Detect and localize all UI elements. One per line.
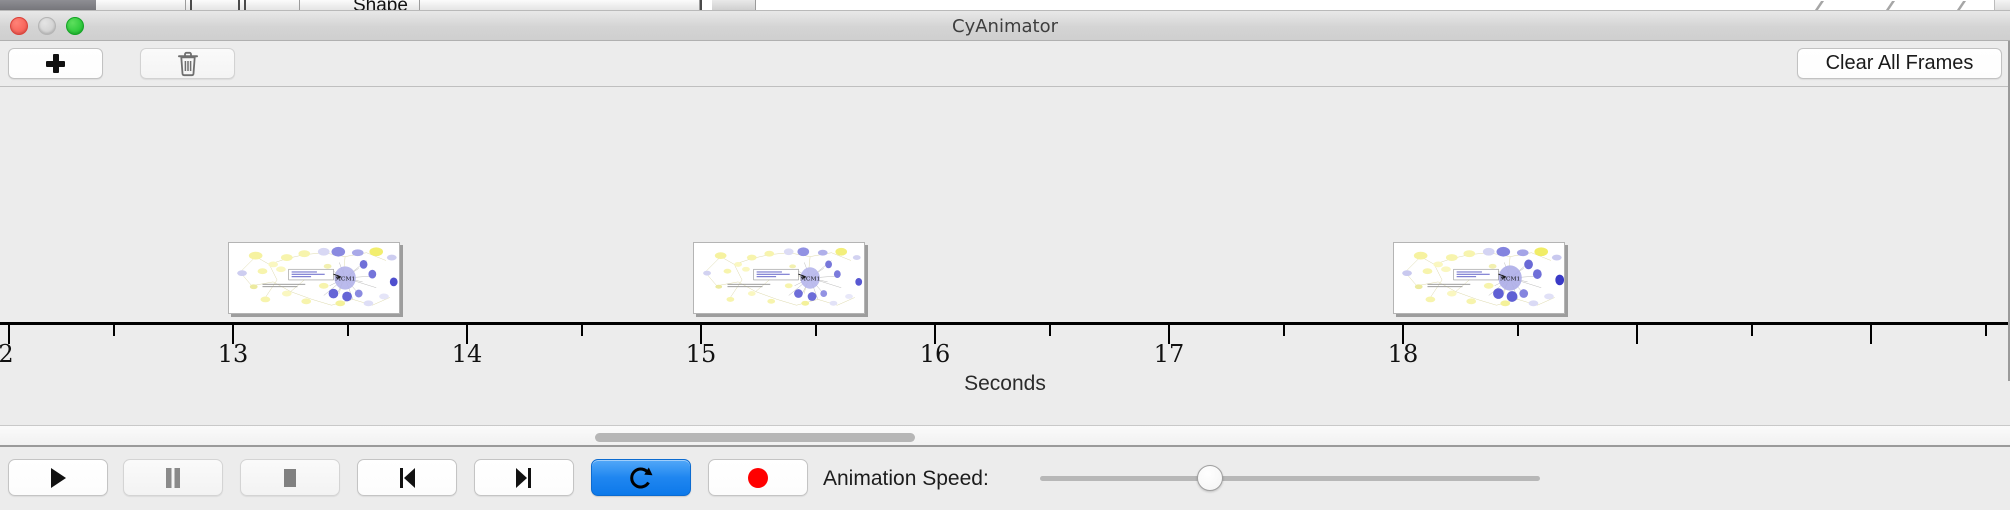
ruler-tick-minor — [347, 325, 349, 336]
background-slash — [1815, 1, 1832, 10]
frame-timeline-track[interactable]: MCM1 — [0, 87, 2010, 322]
background-dark-tab — [0, 0, 96, 10]
animation-speed-label: Animation Speed: — [823, 467, 989, 491]
animation-speed-slider[interactable] — [1040, 476, 1540, 481]
ruler-tick-minor — [581, 325, 583, 336]
ruler-tick-minor — [1751, 325, 1753, 336]
ruler-tick-label: 14 — [452, 340, 483, 368]
background-slash — [1886, 1, 1903, 10]
network-graph-thumbnail: MCM1 — [229, 243, 399, 313]
svg-text:MCM1: MCM1 — [800, 276, 820, 282]
plus-icon — [46, 54, 65, 73]
svg-text:MCM1: MCM1 — [1500, 276, 1520, 282]
timeline-horizontal-scrollbar[interactable] — [0, 425, 2010, 447]
ruler-axis-title: Seconds — [0, 372, 2010, 396]
svg-text:MCM1: MCM1 — [335, 276, 355, 282]
play-button[interactable] — [8, 459, 108, 496]
first-frame-button[interactable] — [357, 459, 457, 496]
network-graph-thumbnail: MCM1 — [1394, 243, 1564, 313]
pause-button[interactable] — [123, 459, 223, 496]
timeline-frame-thumbnail[interactable]: MCM1 — [693, 242, 865, 314]
timeline-ruler[interactable]: 2 13 14 15 16 17 18 Seconds — [0, 322, 2010, 425]
ruler-tick-minor — [1283, 325, 1285, 336]
pause-icon — [163, 467, 183, 489]
clear-all-frames-label: Clear All Frames — [1826, 52, 1974, 75]
ruler-tick-major — [1636, 325, 1638, 344]
loop-icon — [628, 465, 654, 491]
last-frame-button[interactable] — [474, 459, 574, 496]
ruler-tick-label: 16 — [920, 340, 951, 368]
record-button[interactable] — [708, 459, 808, 496]
ruler-tick-minor — [815, 325, 817, 336]
ruler-tick-minor — [1517, 325, 1519, 336]
ruler-tick-minor — [113, 325, 115, 336]
network-graph-thumbnail: MCM1 — [694, 243, 864, 313]
add-frame-button[interactable] — [8, 48, 103, 79]
timeline-frame-thumbnail[interactable]: MCM1 — [228, 242, 400, 314]
scrollbar-thumb[interactable] — [595, 433, 915, 442]
ruler-tick-major — [1870, 325, 1872, 344]
ruler-tick-label: 2 — [0, 340, 14, 368]
timeline-frame-thumbnail[interactable]: MCM1 — [1393, 242, 1565, 314]
record-icon — [746, 466, 770, 490]
cyanimator-window-screenshot: Shape CyAnimator — [0, 0, 2010, 510]
stop-button[interactable] — [240, 459, 340, 496]
background-slash — [1957, 1, 1974, 10]
slider-track[interactable] — [1040, 476, 1540, 481]
skip-forward-icon — [513, 467, 535, 489]
cyanimator-window: CyAnimator Clear All Frames — [0, 10, 2010, 510]
ruler-baseline — [0, 322, 2010, 325]
ruler-tick-label: 18 — [1388, 340, 1419, 368]
ruler-tick-label: 13 — [218, 340, 249, 368]
delete-frame-button[interactable] — [140, 48, 235, 79]
stop-icon — [280, 467, 300, 489]
toolbar: Clear All Frames — [0, 41, 2010, 87]
window-title: CyAnimator — [0, 16, 2010, 37]
loop-button[interactable] — [591, 459, 691, 496]
ruler-tick-minor — [1049, 325, 1051, 336]
titlebar[interactable]: CyAnimator — [0, 11, 2010, 41]
ruler-tick-label: 15 — [686, 340, 717, 368]
slider-thumb[interactable] — [1197, 465, 1223, 491]
ruler-tick-label: 17 — [1154, 340, 1185, 368]
skip-back-icon — [396, 467, 418, 489]
play-icon — [48, 467, 68, 489]
trash-icon — [177, 51, 199, 77]
playback-control-bar: Animation Speed: — [0, 447, 2010, 510]
ruler-tick-minor — [1985, 325, 1987, 336]
clear-all-frames-button[interactable]: Clear All Frames — [1797, 48, 2002, 79]
